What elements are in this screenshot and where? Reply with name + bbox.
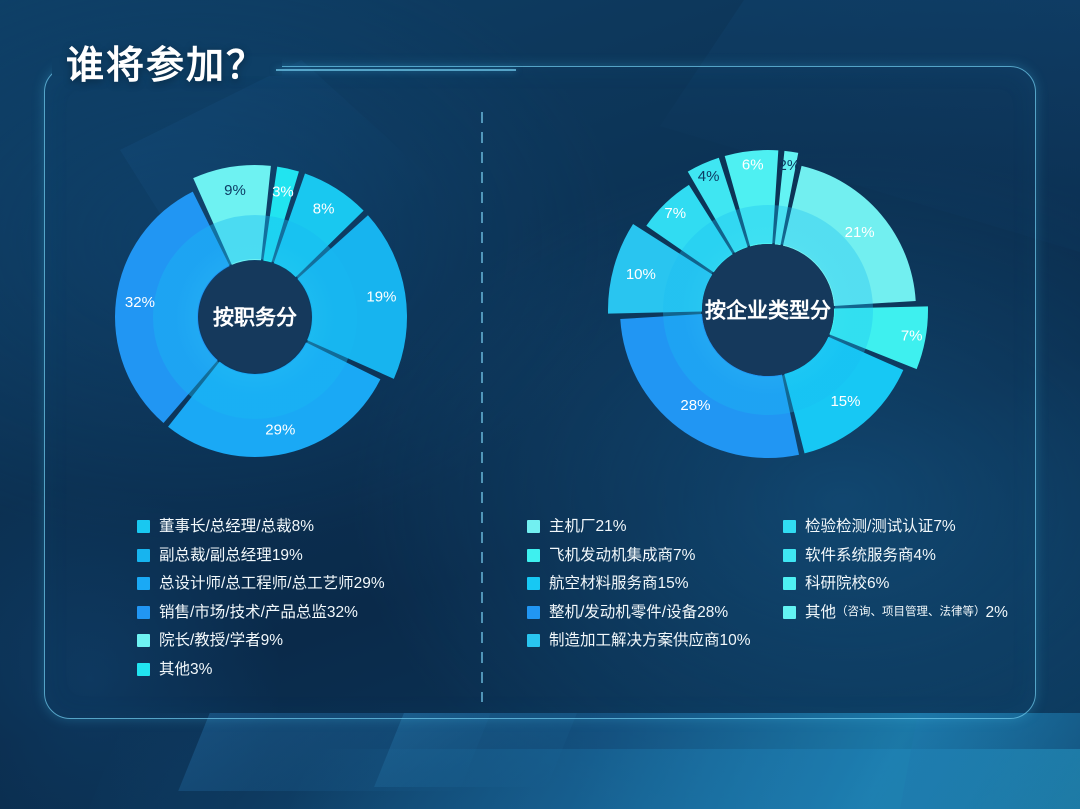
- legend-by-company-type-column-1: 主机厂 21%飞机发动机集成商 7%航空材料服务商 15%整机/发动机零件/设备…: [527, 519, 751, 662]
- legend-value: 3%: [190, 662, 212, 678]
- legend-item[interactable]: 销售/市场/技术/产品总监 32%: [137, 605, 385, 621]
- legend-value: 21%: [596, 519, 627, 535]
- legend-value: 2%: [986, 605, 1008, 621]
- legend-label: 总设计师/总工程师/总工艺师: [159, 576, 354, 592]
- legend-swatch: [137, 634, 150, 647]
- donut-slice-value: 8%: [313, 200, 335, 217]
- title-underline-rule: [276, 69, 516, 71]
- legend-swatch: [527, 634, 540, 647]
- donut-chart-left: 按职务分 8%19%29%32%9%3%: [88, 118, 428, 518]
- legend-item[interactable]: 其他 （咨询、项目管理、法律等）2%: [783, 605, 1008, 621]
- legend-label-note: （咨询、项目管理、法律等）: [836, 607, 986, 619]
- legend-label: 其他: [159, 662, 190, 678]
- donut-chart-right: 按企业类型分 21%7%15%28%10%7%4%6%2%: [580, 110, 960, 510]
- donut-slice-value: 29%: [265, 422, 295, 439]
- legend-by-position: 董事长/总经理/总裁 8%副总裁/副总经理 19%总设计师/总工程师/总工艺师 …: [137, 519, 385, 690]
- legend-label: 销售/市场/技术/产品总监: [159, 605, 327, 621]
- donut-slice-value: 4%: [698, 168, 720, 185]
- legend-item[interactable]: 航空材料服务商 15%: [527, 576, 751, 592]
- legend-value: 32%: [327, 605, 358, 621]
- donut-slice-value: 32%: [125, 294, 155, 311]
- legend-label: 主机厂: [549, 519, 596, 535]
- legend-swatch: [137, 577, 150, 590]
- donut-slice-value: 3%: [272, 184, 294, 201]
- legend-swatch: [137, 520, 150, 533]
- legend-item[interactable]: 其他 3%: [137, 662, 385, 678]
- legend-swatch: [783, 606, 796, 619]
- chart-by-company-type: 按企业类型分 21%7%15%28%10%7%4%6%2%: [580, 110, 960, 510]
- donut-slice-value: 9%: [224, 182, 246, 199]
- bottom-ribbon-decoration: [0, 713, 1080, 809]
- legend-value: 4%: [914, 548, 936, 564]
- legend-swatch: [783, 520, 796, 533]
- chart-by-position: 按职务分 8%19%29%32%9%3%: [88, 118, 428, 518]
- legend-swatch: [137, 606, 150, 619]
- donut-center-label-right: 按企业类型分: [705, 299, 831, 323]
- section-divider: [481, 112, 483, 702]
- legend-value: 19%: [272, 548, 303, 564]
- donut-slice-value: 15%: [830, 393, 860, 410]
- legend-value: 6%: [867, 576, 889, 592]
- legend-label: 飞机发动机集成商: [549, 548, 673, 564]
- legend-swatch: [527, 606, 540, 619]
- legend-item[interactable]: 飞机发动机集成商 7%: [527, 548, 751, 564]
- legend-value: 28%: [697, 605, 728, 621]
- donut-slice-value: 2%: [778, 157, 800, 174]
- page-title: 谁将参加？: [66, 34, 266, 89]
- donut-slice-value: 28%: [680, 397, 710, 414]
- legend-swatch: [137, 549, 150, 562]
- legend-swatch: [783, 577, 796, 590]
- legend-item[interactable]: 董事长/总经理/总裁 8%: [137, 519, 385, 535]
- legend-value: 7%: [673, 548, 695, 564]
- legend-item[interactable]: 院长/教授/学者 9%: [137, 633, 385, 649]
- donut-slice-value: 7%: [664, 205, 686, 222]
- legend-item[interactable]: 检验检测/测试认证 7%: [783, 519, 1008, 535]
- ribbon-corner-facet: [900, 713, 1080, 809]
- legend-label: 董事长/总经理/总裁: [159, 519, 292, 535]
- legend-by-company-type-column-2: 检验检测/测试认证 7%软件系统服务商 4%科研院校 6%其他 （咨询、项目管理…: [783, 519, 1008, 633]
- donut-slice-value: 21%: [845, 224, 875, 241]
- legend-swatch: [527, 549, 540, 562]
- legend-value: 7%: [933, 519, 955, 535]
- legend-label: 整机/发动机零件/设备: [549, 605, 697, 621]
- legend-value: 29%: [354, 576, 385, 592]
- legend-item[interactable]: 整机/发动机零件/设备 28%: [527, 605, 751, 621]
- legend-label: 检验检测/测试认证: [805, 519, 933, 535]
- legend-value: 15%: [658, 576, 689, 592]
- legend-value: 8%: [292, 519, 314, 535]
- legend-swatch: [783, 549, 796, 562]
- legend-label: 院长/教授/学者: [159, 633, 261, 649]
- legend-item[interactable]: 科研院校 6%: [783, 576, 1008, 592]
- legend-item[interactable]: 总设计师/总工程师/总工艺师 29%: [137, 576, 385, 592]
- donut-center-label-left: 按职务分: [213, 306, 297, 330]
- donut-slice-value: 7%: [901, 327, 923, 344]
- legend-label: 科研院校: [805, 576, 867, 592]
- legend-item[interactable]: 制造加工解决方案供应商 10%: [527, 633, 751, 649]
- legend-label: 软件系统服务商: [805, 548, 914, 564]
- legend-label: 其他: [805, 605, 836, 621]
- legend-value: 10%: [720, 633, 751, 649]
- legend-item[interactable]: 副总裁/副总经理 19%: [137, 548, 385, 564]
- donut-slice-value: 19%: [366, 288, 396, 305]
- legend-swatch: [137, 663, 150, 676]
- legend-item[interactable]: 软件系统服务商 4%: [783, 548, 1008, 564]
- legend-label: 制造加工解决方案供应商: [549, 633, 720, 649]
- legend-label: 副总裁/副总经理: [159, 548, 272, 564]
- legend-swatch: [527, 520, 540, 533]
- legend-value: 9%: [261, 633, 283, 649]
- donut-slice-value: 6%: [742, 156, 764, 173]
- donut-slice-value: 10%: [626, 266, 656, 283]
- legend-swatch: [527, 577, 540, 590]
- legend-item[interactable]: 主机厂 21%: [527, 519, 751, 535]
- legend-label: 航空材料服务商: [549, 576, 658, 592]
